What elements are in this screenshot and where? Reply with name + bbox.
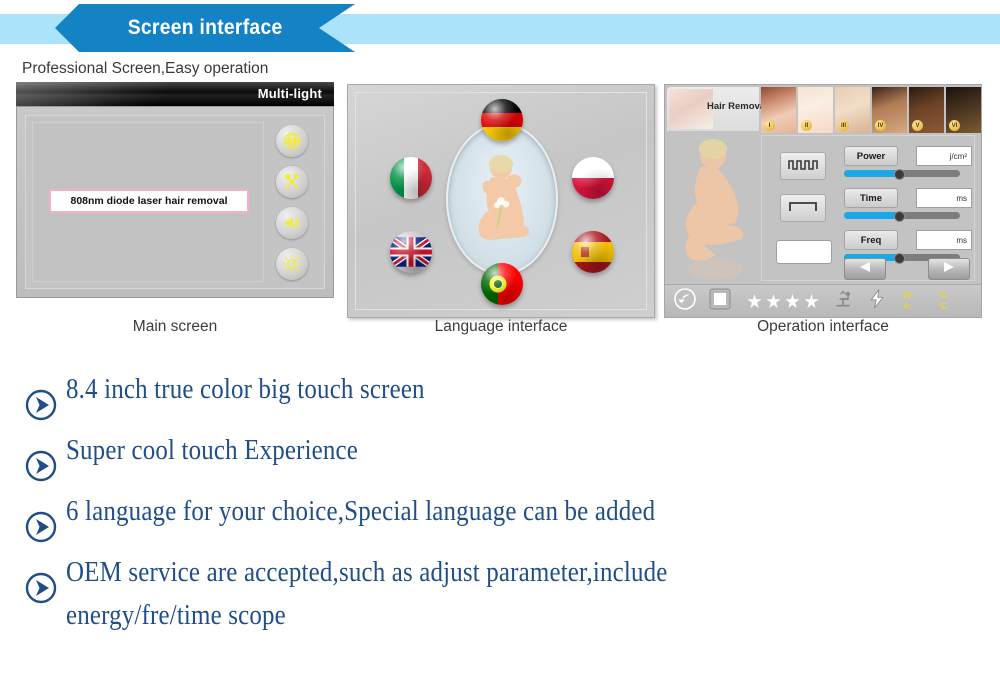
air-temp-label: A: bbox=[903, 301, 914, 312]
single-pulse-waveform-icon bbox=[788, 199, 818, 218]
list-item: OEM service are accepted,such as adjust … bbox=[24, 551, 974, 637]
star-icon bbox=[804, 294, 819, 309]
subtitle-text: Professional Screen,Easy operation bbox=[22, 60, 268, 78]
main-screen-title-text: 808nm diode laser hair removal bbox=[71, 195, 228, 207]
flag-portugal-icon bbox=[481, 263, 523, 305]
next-arrow-icon bbox=[942, 260, 956, 278]
parameter-label-time: Time bbox=[844, 188, 898, 208]
back-arrow-icon-button[interactable] bbox=[673, 287, 697, 316]
stop-square-icon bbox=[709, 288, 731, 310]
flag-germany-button[interactable] bbox=[481, 99, 523, 141]
panel-main-screen: Multi-light 808nm diode laser hair remov… bbox=[16, 82, 334, 322]
next-button[interactable] bbox=[928, 258, 970, 280]
water-temp-unit: °C bbox=[938, 290, 948, 301]
operation-model-figure bbox=[671, 135, 757, 281]
header-title: Screen interface bbox=[128, 16, 283, 40]
tab-hair-removal[interactable]: Hair Removal bbox=[667, 87, 759, 131]
parameter-label-power: Power bbox=[844, 146, 898, 166]
slider-knob[interactable] bbox=[894, 211, 905, 222]
mode-single-pulse-button[interactable] bbox=[780, 194, 826, 222]
header-banner: Screen interface bbox=[0, 0, 1000, 56]
skin-type-option[interactable]: IV bbox=[872, 87, 907, 133]
skin-type-option[interactable]: VI bbox=[946, 87, 981, 133]
skin-type-badge: VI bbox=[949, 120, 960, 131]
lightning-icon bbox=[867, 289, 887, 309]
flag-uk-button[interactable] bbox=[390, 231, 432, 273]
skin-type-option[interactable]: I bbox=[761, 87, 796, 133]
parameter-label-freq: Freq bbox=[844, 230, 898, 250]
list-item: Super cool touch Experience bbox=[24, 429, 974, 483]
skin-type-badge: II bbox=[801, 120, 812, 131]
tools-icon bbox=[282, 172, 302, 192]
mode-multi-pulse-button[interactable] bbox=[780, 152, 826, 180]
feature-text: 6 language for your choice,Special langu… bbox=[66, 490, 655, 533]
globe-icon bbox=[282, 131, 302, 151]
panel-operation-interface: Hair Removal I II III IV V VI bbox=[664, 84, 982, 318]
back-arrow-icon bbox=[673, 287, 697, 311]
slider-knob[interactable] bbox=[894, 169, 905, 180]
chevron-right-circle-icon bbox=[24, 571, 58, 605]
parameter-unit-time[interactable]: ms bbox=[916, 188, 972, 208]
water-temp-label: W: bbox=[903, 290, 914, 301]
brightness-icon bbox=[282, 254, 302, 274]
speaker-icon-button[interactable] bbox=[276, 207, 308, 239]
feature-text: OEM service are accepted,such as adjust … bbox=[66, 551, 668, 637]
star-icon bbox=[785, 294, 800, 309]
parameter-unit-freq[interactable]: ms bbox=[916, 230, 972, 250]
parameter-slider-power[interactable] bbox=[844, 170, 960, 177]
brand-label: Multi-light bbox=[258, 86, 322, 101]
slider-fill bbox=[844, 212, 897, 219]
operation-value-display[interactable] bbox=[776, 240, 832, 264]
prev-button[interactable] bbox=[844, 258, 886, 280]
air-temp-unit: °C bbox=[938, 301, 948, 312]
operation-controls: Power j/cm² Time ms bbox=[761, 135, 975, 281]
language-center-image bbox=[446, 123, 558, 275]
star-icon bbox=[747, 294, 762, 309]
list-item: 6 language for your choice,Special langu… bbox=[24, 490, 974, 544]
operation-body: Power j/cm² Time ms bbox=[665, 133, 981, 285]
flag-uk-icon bbox=[390, 231, 432, 273]
slider-knob[interactable] bbox=[894, 253, 905, 264]
star-icon bbox=[766, 294, 781, 309]
multi-pulse-waveform-icon bbox=[788, 157, 818, 176]
faucet-icon bbox=[833, 289, 853, 309]
flag-spain-icon bbox=[572, 231, 614, 273]
header-tag: Screen interface bbox=[55, 4, 355, 52]
brightness-icon-button[interactable] bbox=[276, 248, 308, 280]
flag-poland-icon bbox=[572, 157, 614, 199]
temperature-readout: W: A: °C °C bbox=[903, 290, 947, 311]
list-item: 8.4 inch true color big touch screen bbox=[24, 368, 974, 422]
skin-type-option[interactable]: II bbox=[798, 87, 833, 133]
stop-square-icon-button[interactable] bbox=[709, 288, 731, 315]
lightning-icon-button[interactable] bbox=[867, 289, 887, 314]
chevron-right-circle-icon bbox=[24, 510, 58, 544]
model-figure-graphic bbox=[461, 151, 543, 255]
main-screen-topbar: Multi-light bbox=[16, 82, 334, 106]
caption-language-interface: Language interface bbox=[347, 318, 655, 336]
tab-hair-removal-label: Hair Removal bbox=[707, 101, 768, 112]
main-screen-title-box[interactable]: 808nm diode laser hair removal bbox=[49, 189, 249, 213]
globe-icon-button[interactable] bbox=[276, 125, 308, 157]
chevron-right-circle-icon bbox=[24, 449, 58, 483]
skin-type-selector: I II III IV V VI bbox=[761, 87, 981, 133]
tools-icon-button[interactable] bbox=[276, 166, 308, 198]
flag-spain-button[interactable] bbox=[572, 231, 614, 273]
feature-text: Super cool touch Experience bbox=[66, 429, 358, 472]
chevron-right-circle-icon bbox=[24, 388, 58, 422]
feature-list: 8.4 inch true color big touch screen Sup… bbox=[24, 368, 974, 644]
skin-type-badge: I bbox=[764, 120, 775, 131]
skin-type-option[interactable]: III bbox=[835, 87, 870, 133]
caption-operation-interface: Operation interface bbox=[664, 318, 982, 336]
skin-type-badge: III bbox=[838, 120, 849, 131]
main-screen-inner: 808nm diode laser hair removal bbox=[25, 115, 325, 289]
skin-type-badge: V bbox=[912, 120, 923, 131]
star-rating-group[interactable] bbox=[747, 294, 819, 309]
parameter-unit-power[interactable]: j/cm² bbox=[916, 146, 972, 166]
main-screen-display: 808nm diode laser hair removal bbox=[32, 122, 264, 282]
main-screen-bezel: 808nm diode laser hair removal bbox=[16, 106, 334, 298]
flag-italy-icon bbox=[390, 157, 432, 199]
faucet-icon-button[interactable] bbox=[833, 289, 853, 314]
caption-main-screen: Main screen bbox=[16, 318, 334, 336]
flag-germany-icon bbox=[481, 99, 523, 141]
parameter-row-freq: Freq ms bbox=[844, 230, 968, 250]
flag-poland-button[interactable] bbox=[572, 157, 614, 199]
flag-portugal-button[interactable] bbox=[481, 263, 523, 305]
parameter-row-time: Time ms bbox=[844, 188, 968, 208]
main-screen-icon-rail bbox=[264, 120, 320, 284]
slider-fill bbox=[844, 170, 897, 177]
feature-text: 8.4 inch true color big touch screen bbox=[66, 368, 425, 411]
skin-type-badge: IV bbox=[875, 120, 886, 131]
flag-italy-button[interactable] bbox=[390, 157, 432, 199]
panel-language-interface bbox=[347, 84, 655, 318]
speaker-icon bbox=[282, 213, 302, 233]
parameter-row-power: Power j/cm² bbox=[844, 146, 968, 166]
skin-type-option[interactable]: V bbox=[909, 87, 944, 133]
operation-status-bar: W: A: °C °C bbox=[665, 284, 981, 317]
prev-arrow-icon bbox=[858, 260, 872, 278]
parameter-slider-time[interactable] bbox=[844, 212, 960, 219]
